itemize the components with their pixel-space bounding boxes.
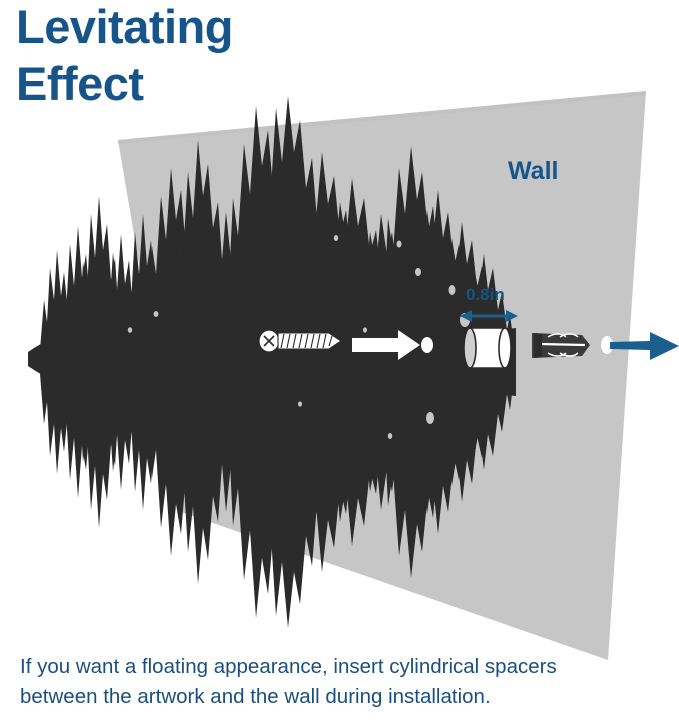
artwork-mount-hole xyxy=(421,337,433,353)
cylindrical-spacer xyxy=(464,328,511,368)
caption-text: If you want a floating appearance, inser… xyxy=(20,652,679,712)
installation-diagram xyxy=(0,0,679,721)
wall-label: Wall xyxy=(508,157,558,185)
dimension-label: 0.8in xyxy=(466,285,505,304)
screw-icon xyxy=(259,330,341,352)
wall-anchor-plug xyxy=(532,333,590,358)
caption-line-2: between the artwork and the wall during … xyxy=(20,682,679,712)
caption-line-1: If you want a floating appearance, inser… xyxy=(20,652,679,682)
